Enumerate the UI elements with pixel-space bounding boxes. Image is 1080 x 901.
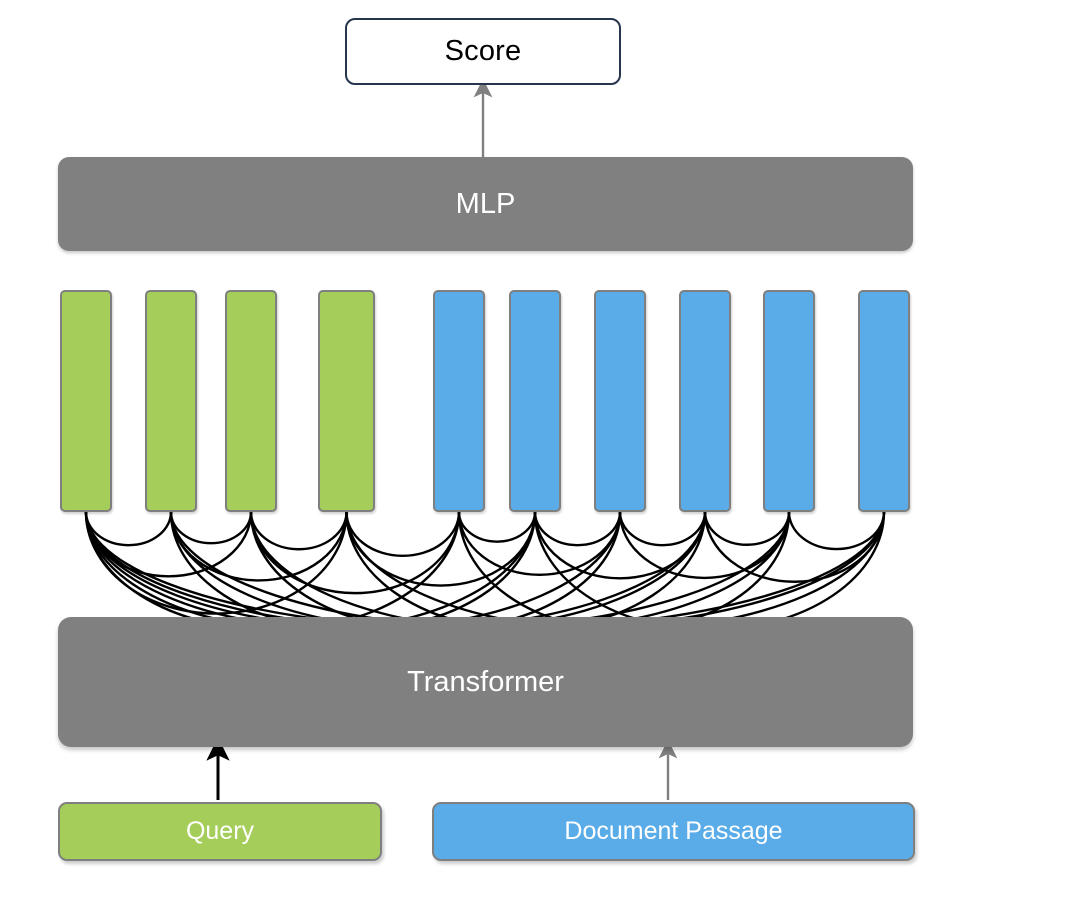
attention-arc-3-4: [347, 512, 460, 556]
token-bar-passage-5: [509, 290, 561, 512]
attention-arc-3-7: [347, 512, 706, 630]
token-bar-passage-6: [594, 290, 646, 512]
diagram-canvas: Score MLP Transformer Query Document Pas…: [0, 0, 1080, 901]
token-bar-passage-8: [763, 290, 815, 512]
document-passage-input-box[interactable]: Document Passage: [432, 802, 915, 861]
attention-arc-7-9: [705, 512, 884, 582]
attention-arc-6-7: [620, 512, 705, 545]
attention-arc-4-5: [459, 512, 535, 542]
token-bar-query-2: [225, 290, 277, 512]
token-bar-passage-4: [433, 290, 485, 512]
passage-label: Document Passage: [564, 817, 782, 846]
query-label: Query: [186, 817, 254, 846]
token-bar-passage-9: [858, 290, 910, 512]
token-bar-query-3: [318, 290, 375, 512]
attention-arc-7-8: [705, 512, 789, 545]
attention-arcs: [86, 512, 884, 630]
token-bar-passage-7: [679, 290, 731, 512]
attention-arc-2-3: [251, 512, 347, 549]
mlp-box[interactable]: MLP: [58, 157, 913, 251]
query-input-box[interactable]: Query: [58, 802, 382, 861]
transformer-label: Transformer: [407, 666, 564, 699]
token-bar-query-0: [60, 290, 112, 512]
attention-arc-5-6: [535, 512, 620, 545]
mlp-label: MLP: [456, 188, 516, 221]
attention-arc-4-6: [459, 512, 620, 575]
attention-arc-1-2: [171, 512, 251, 543]
token-bar-query-1: [145, 290, 197, 512]
score-label: Score: [445, 35, 522, 68]
score-box[interactable]: Score: [345, 18, 621, 85]
transformer-box[interactable]: Transformer: [58, 617, 913, 747]
